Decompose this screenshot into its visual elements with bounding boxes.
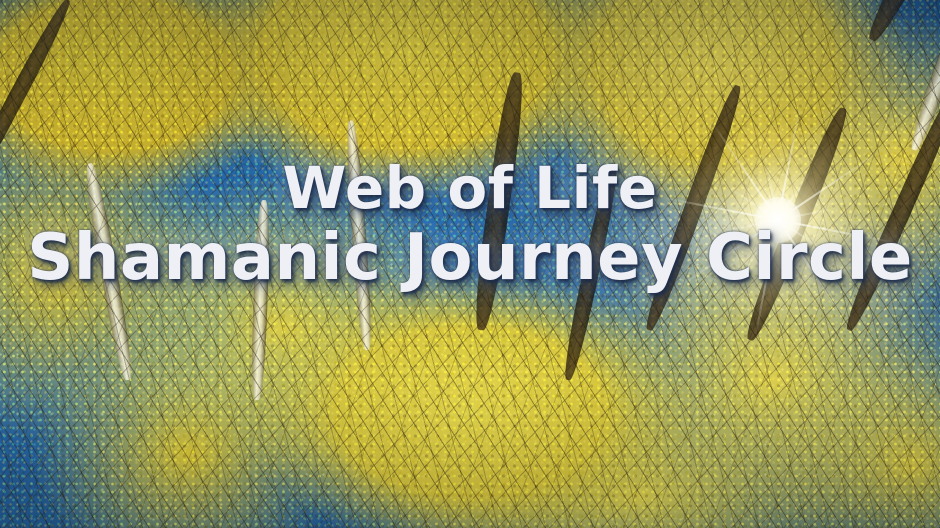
event-banner-image: Web of Life Shamanic Journey Circle bbox=[0, 0, 940, 528]
branch-web-layer-b bbox=[0, 0, 940, 528]
